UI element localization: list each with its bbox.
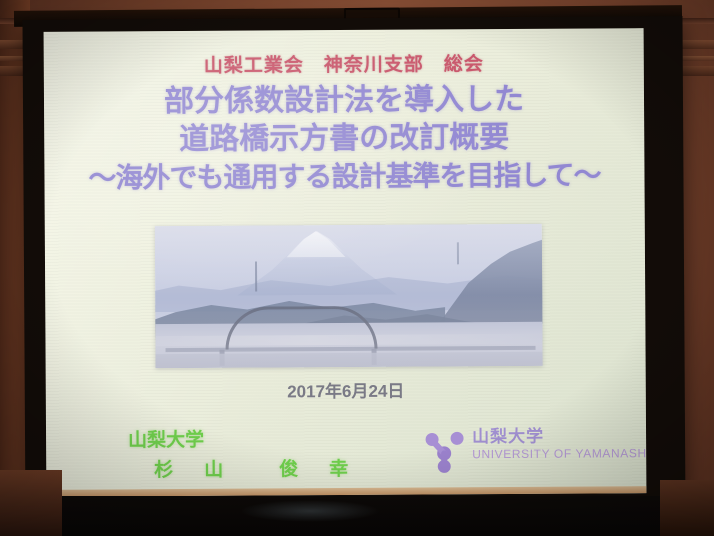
- university-logo: 山梨大学 UNIVERSITY OF YAMANASHI: [424, 426, 634, 479]
- mount-fuji-bridge-photo: [155, 224, 543, 368]
- foreground-right-wall: [660, 480, 714, 536]
- presenter-name: 杉 山 俊 幸: [154, 454, 354, 482]
- transmission-pylon-secondary: [457, 242, 459, 264]
- slide-title: 部分係数設計法を導入した 道路橋示方書の改訂概要 〜海外でも通用する設計基準を目…: [44, 80, 645, 198]
- slide-event-header: 山梨工業会 神奈川支部 総会: [44, 48, 644, 79]
- yamanashi-logo-mark-icon: [424, 429, 466, 473]
- foreground-reflection: [240, 500, 380, 522]
- slide-content: 山梨工業会 神奈川支部 総会 部分係数設計法を導入した 道路橋示方書の改訂概要 …: [44, 28, 647, 497]
- title-line-2: 道路橋示方書の改訂概要: [44, 118, 644, 160]
- transmission-pylon: [255, 262, 257, 292]
- title-line-3: 〜海外でも通用する設計基準を目指して〜: [44, 156, 644, 198]
- foreground-road: [156, 352, 543, 368]
- lecture-room-photo: 山梨工業会 神奈川支部 総会 部分係数設計法を導入した 道路橋示方書の改訂概要 …: [0, 0, 714, 536]
- affiliation-label: 山梨大学: [128, 425, 204, 452]
- logo-text-block: 山梨大学 UNIVERSITY OF YAMANASHI: [472, 426, 646, 462]
- logo-japanese-name: 山梨大学: [472, 426, 646, 447]
- presentation-date: 2017年6月24日: [46, 375, 646, 404]
- logo-english-name: UNIVERSITY OF YAMANASHI: [472, 446, 646, 462]
- arch-bridge: [225, 306, 377, 350]
- foreground-left-wall: [0, 470, 62, 536]
- presentation-slide: 山梨工業会 神奈川支部 総会 部分係数設計法を導入した 道路橋示方書の改訂概要 …: [44, 28, 647, 497]
- title-line-1: 部分係数設計法を導入した: [44, 80, 644, 122]
